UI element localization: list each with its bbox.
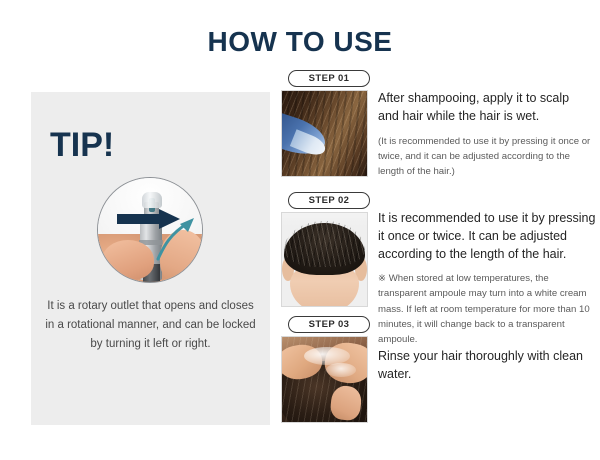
step-item-01: STEP 01 After shampooing, apply it to sc…	[281, 70, 593, 192]
step-text-01: After shampooing, apply it to scalp and …	[378, 90, 593, 179]
hair-applicator-photo	[281, 90, 368, 177]
step-badge-02: STEP 02	[288, 192, 370, 209]
step-heading-03: Rinse your hair thoroughly with clean wa…	[378, 348, 593, 384]
step-heading-01: After shampooing, apply it to scalp and …	[378, 90, 593, 126]
step-item-02: STEP 02 It is recommended to use it by p…	[281, 192, 593, 316]
step-item-03: STEP 03 Rinse your hair thoroughly with …	[281, 316, 593, 426]
tip-caption: It is a rotary outlet that opens and clo…	[43, 297, 258, 354]
rinsing-hair-photo	[281, 336, 368, 423]
dispenser-cap	[142, 192, 162, 208]
step-badge-03: STEP 03	[288, 316, 370, 333]
hairline-forehead-photo	[281, 212, 368, 307]
product-dispenser-rotate-icon	[97, 177, 203, 283]
tip-heading: TIP!	[50, 128, 114, 162]
page-title: HOW TO USE	[0, 26, 600, 58]
thumb-icon	[102, 240, 154, 280]
step-heading-02: It is recommended to use it by pressing …	[378, 210, 596, 263]
step-badge-01: STEP 01	[288, 70, 370, 87]
step-text-03: Rinse your hair thoroughly with clean wa…	[378, 348, 593, 384]
foam-secondary-icon	[326, 363, 356, 377]
step-note-01: (It is recommended to use it by pressing…	[378, 134, 593, 179]
rotate-curved-arrow-icon	[154, 212, 200, 262]
steps-list: STEP 01 After shampooing, apply it to sc…	[281, 70, 593, 426]
tip-panel: TIP! It is a rotary outlet that opens an…	[31, 92, 270, 425]
